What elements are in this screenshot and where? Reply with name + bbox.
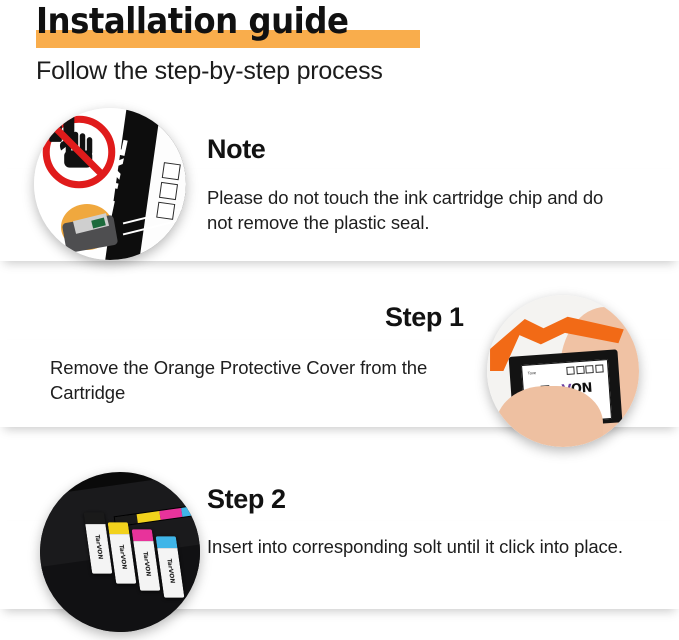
installation-guide-page: Installation guide Follow the step-by-st… (0, 0, 679, 640)
step-1-heading: Step 1 (385, 301, 464, 333)
note-heading: Note (207, 133, 265, 165)
no-hand-touching-icon (40, 113, 118, 191)
hand-bottom (496, 386, 602, 447)
title-wrapper: Installation guide (36, 0, 348, 44)
step-2-image: TarVON TarVON TarVON TarVON (40, 472, 200, 632)
page-subtitle: Follow the step-by-step process (36, 56, 383, 86)
step-2-body-text: Insert into corresponding solt until it … (207, 534, 627, 559)
step-2-heading: Step 2 (207, 483, 286, 515)
cartridge-spec-icons (567, 364, 604, 375)
cartridge-top-code: Tove (528, 370, 537, 376)
note-image: 24XL ink cartridges (34, 108, 186, 260)
step-1-image: Tove TarVON relief. Trust delivered (487, 295, 639, 447)
step-1-body-text: Remove the Orange Protective Cover from … (50, 355, 480, 405)
note-body-text: Please do not touch the ink cartridge ch… (207, 185, 627, 235)
page-title: Installation guide (36, 0, 348, 44)
header: Installation guide Follow the step-by-st… (36, 0, 656, 44)
